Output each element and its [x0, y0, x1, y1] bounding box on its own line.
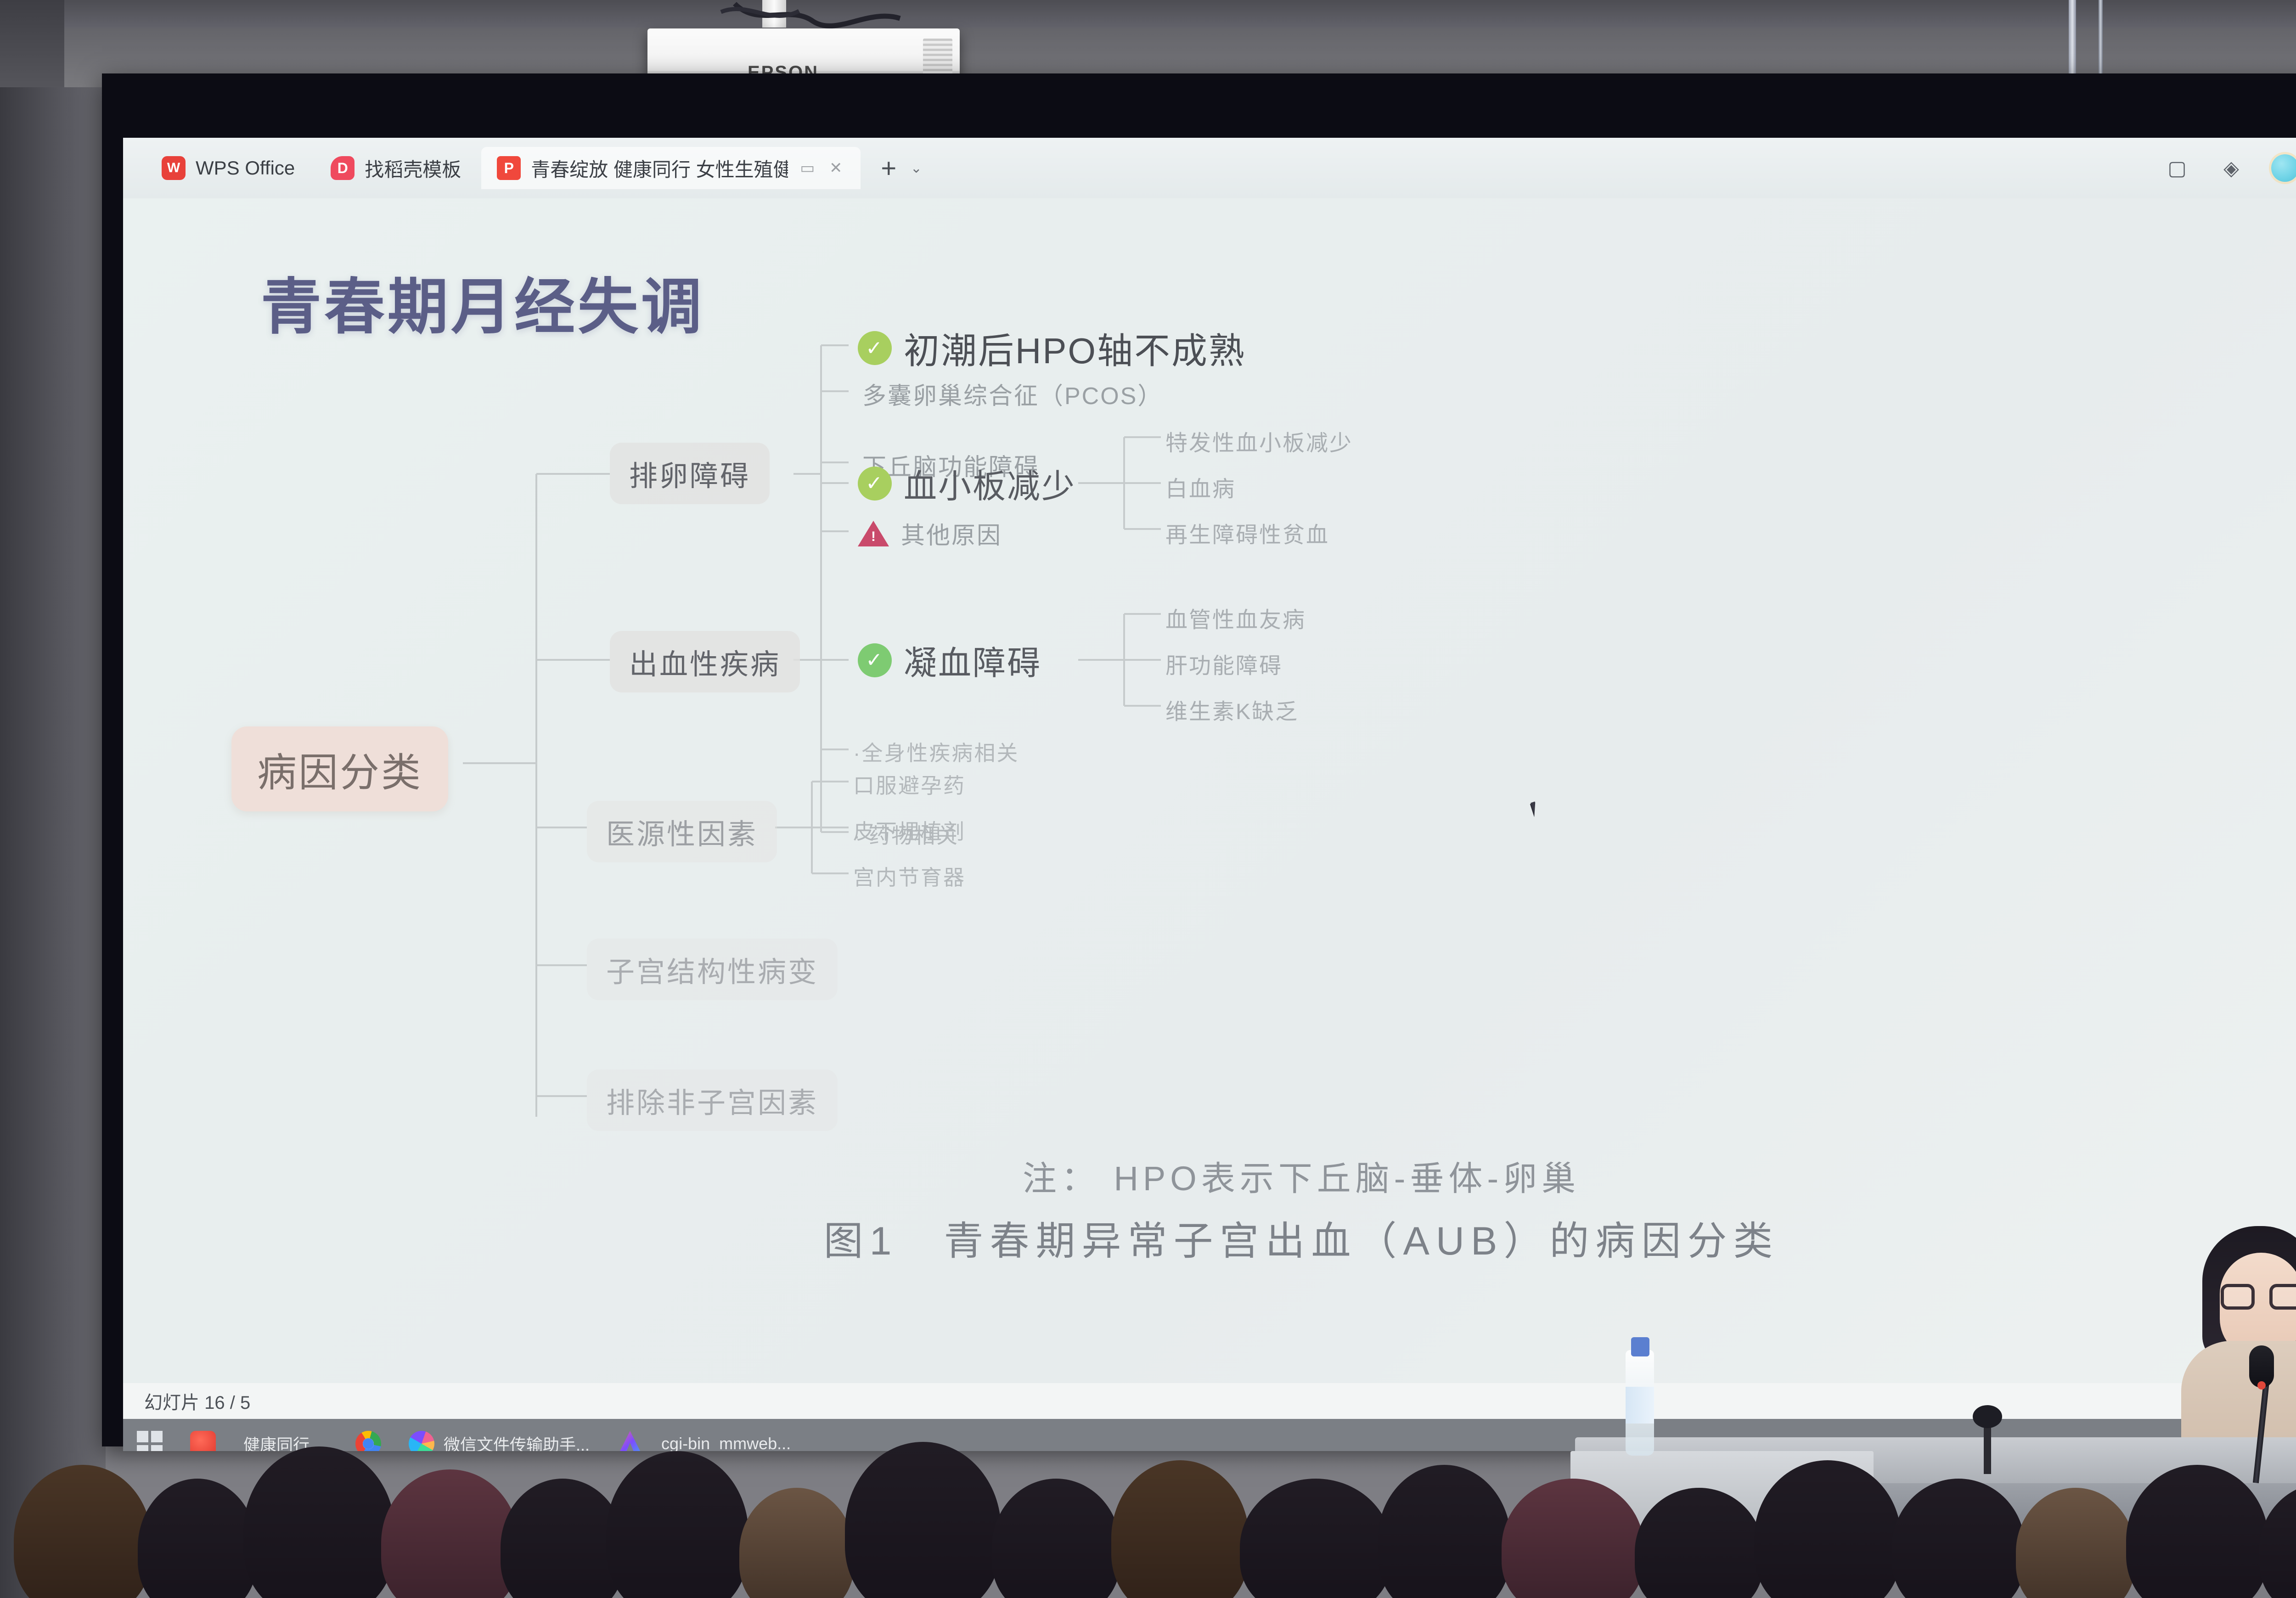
leaf-label: 再生障碍性贫血 [1165, 517, 1329, 549]
warning-triangle-icon [858, 521, 889, 546]
mindmap: 病因分类 排卵障碍 ✓ 初潮后HPO轴不成熟 多囊卵巢综合征（PCOS） 下丘脑… [123, 198, 2296, 1383]
leaf-label: 特发性血小板减少 [1165, 425, 1353, 457]
leaf-label: 其他原因 [901, 516, 1002, 551]
branch-label: 医源性因素 [606, 811, 758, 852]
ai-assistant-icon[interactable]: ◈ [2217, 154, 2245, 182]
leaf-iud: 宫内节育器 [853, 861, 966, 891]
branch-node-uterine-structural: 子宫结构性病变 [587, 939, 838, 1000]
water-bottle-cap [1631, 1337, 1649, 1356]
water-bottle-label [1626, 1387, 1654, 1424]
mindmap-connectors [123, 198, 2296, 1383]
leaf-systemic-disease: ·全身性疾病相关 [853, 737, 1019, 767]
document-icon[interactable]: ▢ [2163, 154, 2191, 182]
tab-label: 青春绽放 健康同行 女性生殖健 [531, 154, 788, 182]
docer-template-icon: D [331, 156, 355, 180]
slide-figure-caption: 图1 青春期异常子宫出血（AUB）的病因分类 [123, 1209, 2296, 1266]
leaf-itp: 特发性血小板减少 [1165, 425, 1353, 457]
tab-wps-office[interactable]: W WPS Office [146, 147, 310, 189]
leaf-subdermal-implant: 皮下埋植剂 [853, 815, 966, 845]
powerpoint-file-icon: P [497, 156, 521, 180]
tab-label: WPS Office [196, 157, 295, 179]
ceiling-band [64, 0, 2296, 28]
leaf-pcos: 多囊卵巢综合征（PCOS） [862, 377, 1163, 411]
audience-row [0, 1433, 2296, 1598]
leaf-label: 初潮后HPO轴不成熟 [904, 322, 1246, 374]
mic-status-led [2257, 1381, 2266, 1390]
branch-node-iatrogenic: 医源性因素 [587, 801, 777, 862]
slide-counter: 幻灯片 16 / 5 [144, 1388, 250, 1414]
tab-close-icon[interactable]: ✕ [827, 159, 845, 177]
leaf-oral-contraceptive: 口服避孕药 [853, 769, 966, 799]
wps-titlebar: W WPS Office D 找稻壳模板 P 青春绽放 健康同行 女性生殖健 ▭… [123, 138, 2296, 198]
leaf-label: ·全身性疾病相关 [853, 737, 1019, 767]
branch-label: 排除非子宫因素 [606, 1080, 818, 1121]
avatar[interactable] [2271, 154, 2296, 182]
tab-label: 找稻壳模板 [365, 154, 461, 182]
leaf-label: 血小板减少 [904, 459, 1076, 507]
left-wall-shadow [0, 87, 106, 1598]
branch-label: 出血性疾病 [629, 641, 781, 682]
statusbar: 幻灯片 16 / 5 [123, 1383, 2296, 1419]
projected-desktop: W WPS Office D 找稻壳模板 P 青春绽放 健康同行 女性生殖健 ▭… [123, 138, 2296, 1451]
tab-presentation-active[interactable]: P 青春绽放 健康同行 女性生殖健 ▭ ✕ [481, 147, 861, 189]
upper-left-wall [0, 0, 64, 87]
leaf-label: 血管性血友病 [1165, 602, 1306, 634]
leaf-label: 皮下埋植剂 [853, 815, 966, 845]
leaf-label: 凝血障碍 [904, 636, 1041, 684]
lecture-hall-scene: EPSON W WPS Office D 找稻壳模板 P 青春绽放 健康同行 女… [0, 0, 2296, 1598]
slide-canvas: 青春期月经失调 [123, 198, 2296, 1383]
presenter-glasses [2221, 1284, 2296, 1310]
check-circle-icon: ✓ [858, 643, 892, 677]
leaf-thrombocytopenia: ✓ 血小板减少 [858, 459, 1076, 507]
wps-logo-icon: W [162, 156, 186, 180]
root-label: 病因分类 [257, 740, 422, 798]
leaf-label: 维生素K缺乏 [1165, 693, 1299, 726]
branch-node-exclude-nonuterine: 排除非子宫因素 [587, 1069, 838, 1131]
leaf-aplastic-anemia: 再生障碍性贫血 [1165, 517, 1329, 549]
tab-docer-template[interactable]: D 找稻壳模板 [315, 147, 477, 189]
leaf-label: 肝功能障碍 [1165, 647, 1283, 680]
branch-node-bleeding-disorders: 出血性疾病 [610, 631, 800, 692]
branch-node-ovulation: 排卵障碍 [610, 443, 770, 504]
leaf-label: 多囊卵巢综合征（PCOS） [862, 377, 1163, 411]
leaf-label: 口服避孕药 [853, 769, 966, 799]
check-circle-icon: ✓ [858, 467, 892, 501]
leaf-liver-dysfunction: 肝功能障碍 [1165, 647, 1283, 680]
check-circle-icon: ✓ [858, 331, 892, 365]
leaf-hpo-immature: ✓ 初潮后HPO轴不成熟 [858, 322, 1246, 374]
chevron-down-icon[interactable]: ⌄ [905, 152, 928, 184]
branch-label: 子宫结构性病变 [606, 949, 818, 990]
branch-label: 排卵障碍 [629, 453, 750, 494]
leaf-label: 白血病 [1165, 471, 1236, 503]
new-tab-button[interactable]: + [872, 152, 905, 184]
leaf-leukemia: 白血病 [1165, 471, 1236, 503]
slide-footnote-hpo: 注： HPO表示下丘脑-垂体-卵巢 [123, 1151, 2296, 1200]
leaf-label: 宫内节育器 [853, 861, 966, 891]
table-mic-head [1973, 1405, 2002, 1428]
leaf-von-willebrand: 血管性血友病 [1165, 602, 1306, 634]
leaf-coagulopathy: ✓ 凝血障碍 [858, 636, 1041, 684]
window-controls: ▢ ◈ — ❐ ✕ [2163, 138, 2296, 198]
leaf-other-causes: 其他原因 [858, 516, 1002, 551]
tab-restore-icon[interactable]: ▭ [798, 159, 816, 177]
mindmap-root-node: 病因分类 [231, 726, 448, 811]
leaf-vitamin-k-deficiency: 维生素K缺乏 [1165, 693, 1299, 726]
